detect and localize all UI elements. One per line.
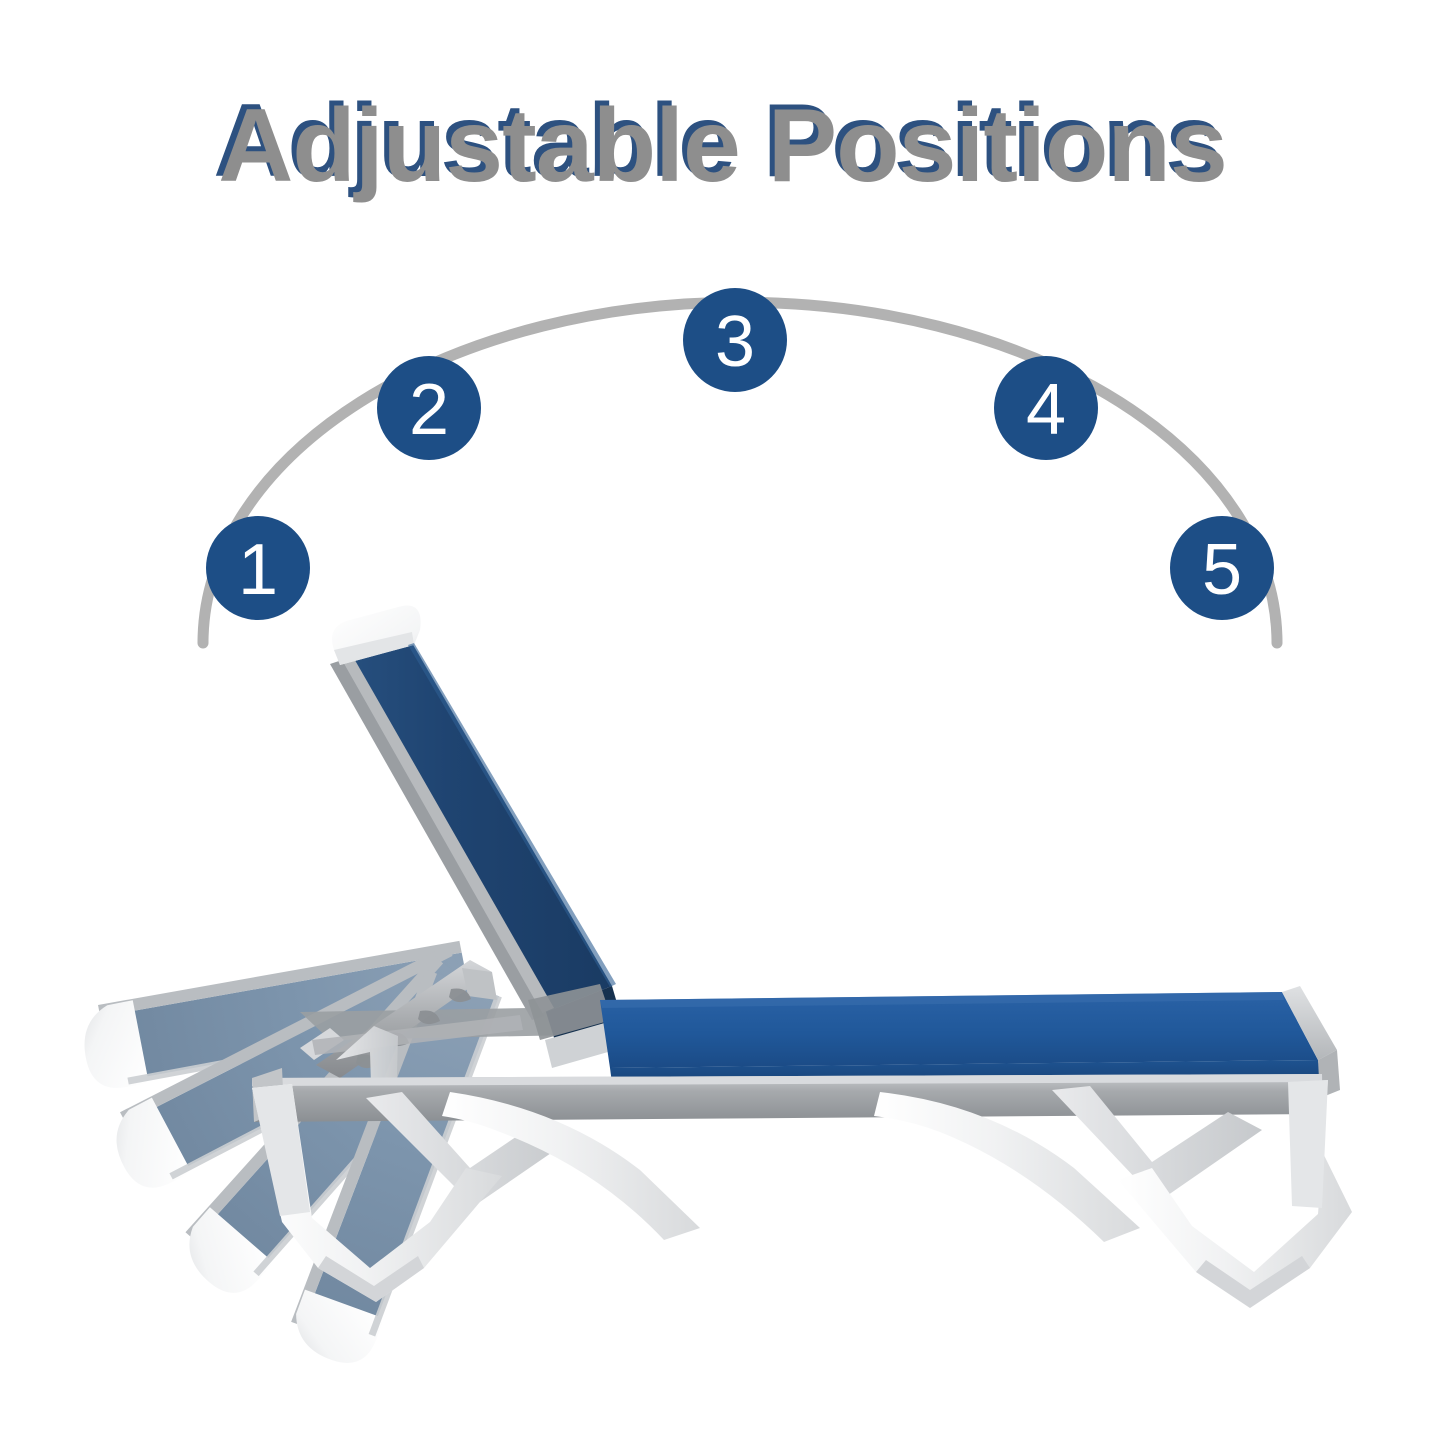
step-marker-2[interactable]: 2 [377,356,481,460]
step-marker-5[interactable]: 5 [1170,516,1274,620]
step-label-5: 5 [1202,530,1242,610]
step-label-1: 1 [238,530,278,610]
step-marker-3[interactable]: 3 [683,288,787,392]
step-marker-4[interactable]: 4 [994,356,1098,460]
step-label-3: 3 [715,302,755,382]
step-label-2: 2 [409,370,449,450]
step-label-4: 4 [1026,370,1066,450]
step-marker-1[interactable]: 1 [206,516,310,620]
infographic-canvas: Adjustable Positions [0,0,1445,1445]
position-arc-layer: 1 2 3 4 5 [0,0,1445,1445]
